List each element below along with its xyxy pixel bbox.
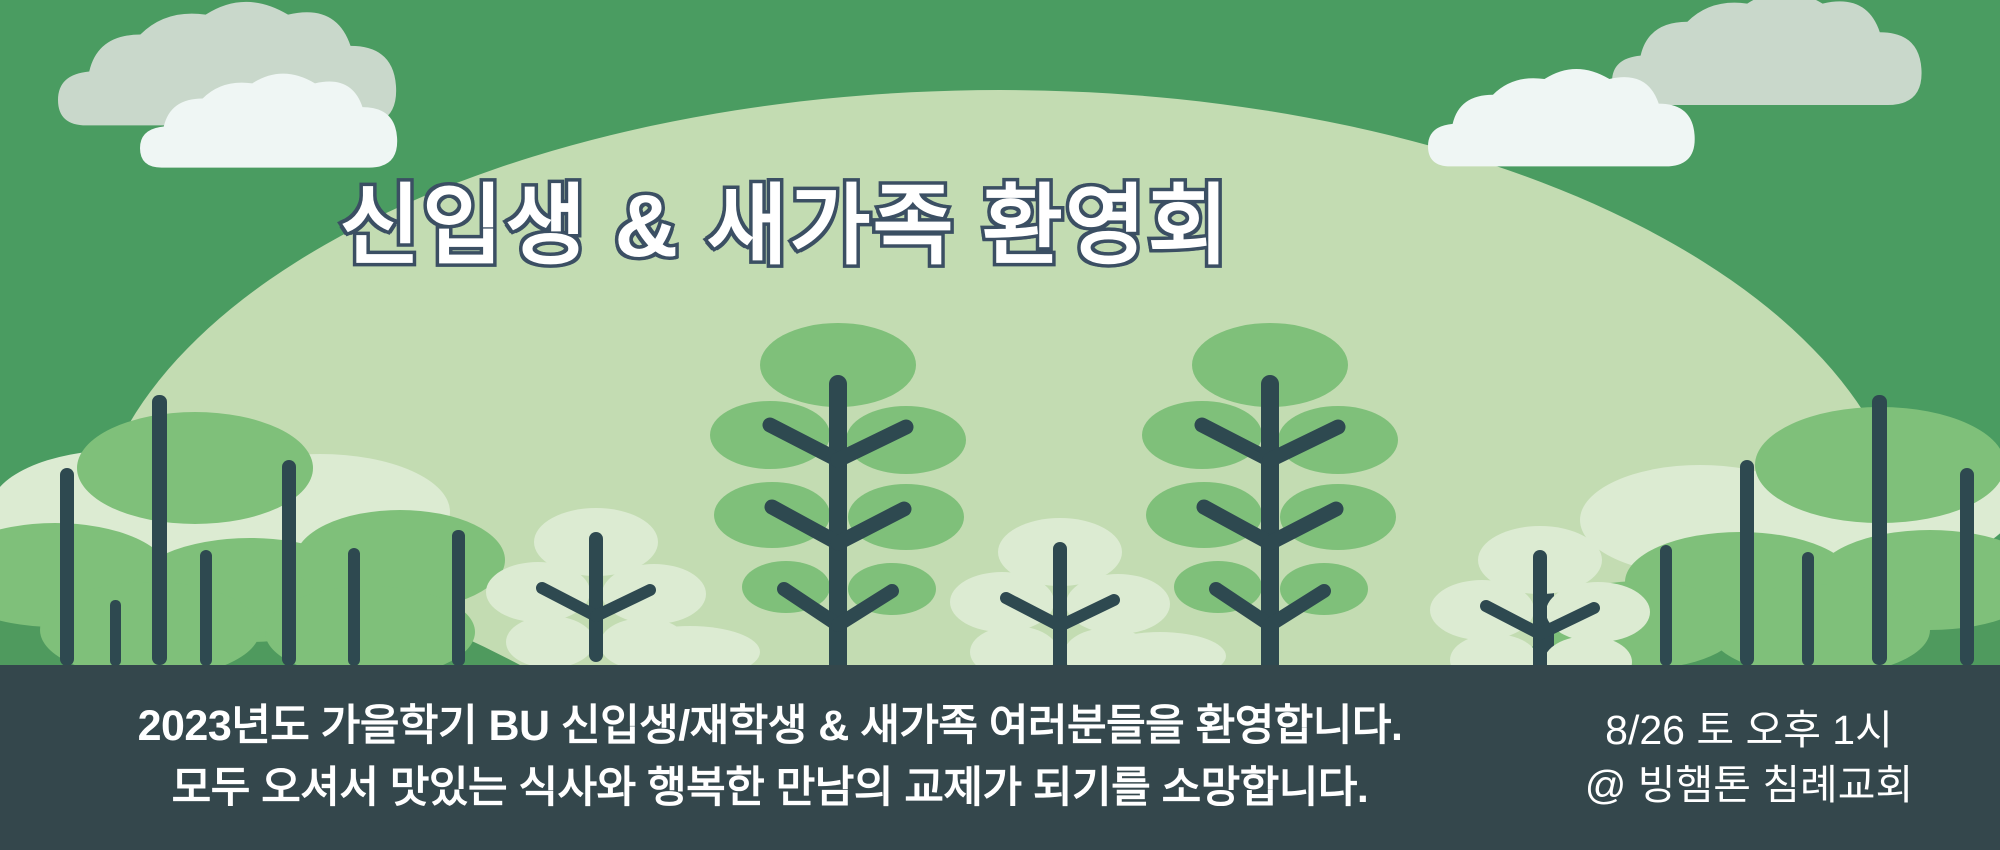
poster-canvas: 신입생 & 새가족 환영회 2023년도 가을학기 BU 신입생/재학생 & 새…	[0, 0, 2000, 850]
welcome-message-line-2: 모두 오셔서 맛있는 식사와 행복한 만남의 교제가 되기를 소망합니다.	[30, 758, 1510, 819]
bottom-info-bar: 2023년도 가을학기 BU 신입생/재학생 & 새가족 여러분들을 환영합니다…	[0, 665, 2000, 850]
event-details-block: 8/26 토 오후 1시 @ 빙햄톤 침례교회	[1510, 703, 1982, 811]
welcome-message-line-1: 2023년도 가을학기 BU 신입생/재학생 & 새가족 여러분들을 환영합니다…	[30, 696, 1510, 757]
event-location: @ 빙햄톤 침례교회	[1516, 758, 1982, 812]
welcome-message-block: 2023년도 가을학기 BU 신입생/재학생 & 새가족 여러분들을 환영합니다…	[30, 696, 1510, 818]
event-datetime: 8/26 토 오후 1시	[1516, 703, 1982, 757]
